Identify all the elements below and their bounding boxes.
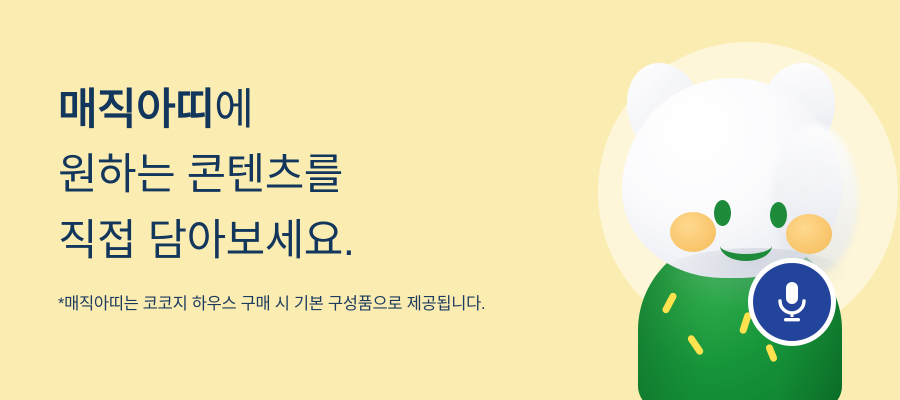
character-cheek-left <box>670 212 716 252</box>
headline: 매직아띠에 원하는 콘텐츠를 직접 담아보세요. <box>58 78 618 274</box>
headline-line-2: 원하는 콘텐츠를 <box>58 143 618 208</box>
character-cheek-right <box>786 214 832 254</box>
character-eye-left <box>714 200 731 226</box>
character-smile <box>720 230 772 261</box>
character-illustration <box>600 44 900 400</box>
headline-brand: 매직아띠 <box>58 86 214 134</box>
copy-block: 매직아띠에 원하는 콘텐츠를 직접 담아보세요. *매직아띠는 코코지 하우스 … <box>58 78 618 314</box>
headline-line-1: 매직아띠에 <box>58 78 618 143</box>
footnote-text: *매직아띠는 코코지 하우스 구매 시 기본 구성품으로 제공됩니다. <box>58 290 618 314</box>
promo-banner: 매직아띠에 원하는 콘텐츠를 직접 담아보세요. *매직아띠는 코코지 하우스 … <box>0 0 900 400</box>
microphone-icon <box>775 279 809 325</box>
microphone-badge[interactable] <box>748 258 836 346</box>
character-eye-right <box>770 202 787 228</box>
headline-line-3: 직접 담아보세요. <box>58 209 618 274</box>
headline-line-1-suffix: 에 <box>214 86 253 134</box>
